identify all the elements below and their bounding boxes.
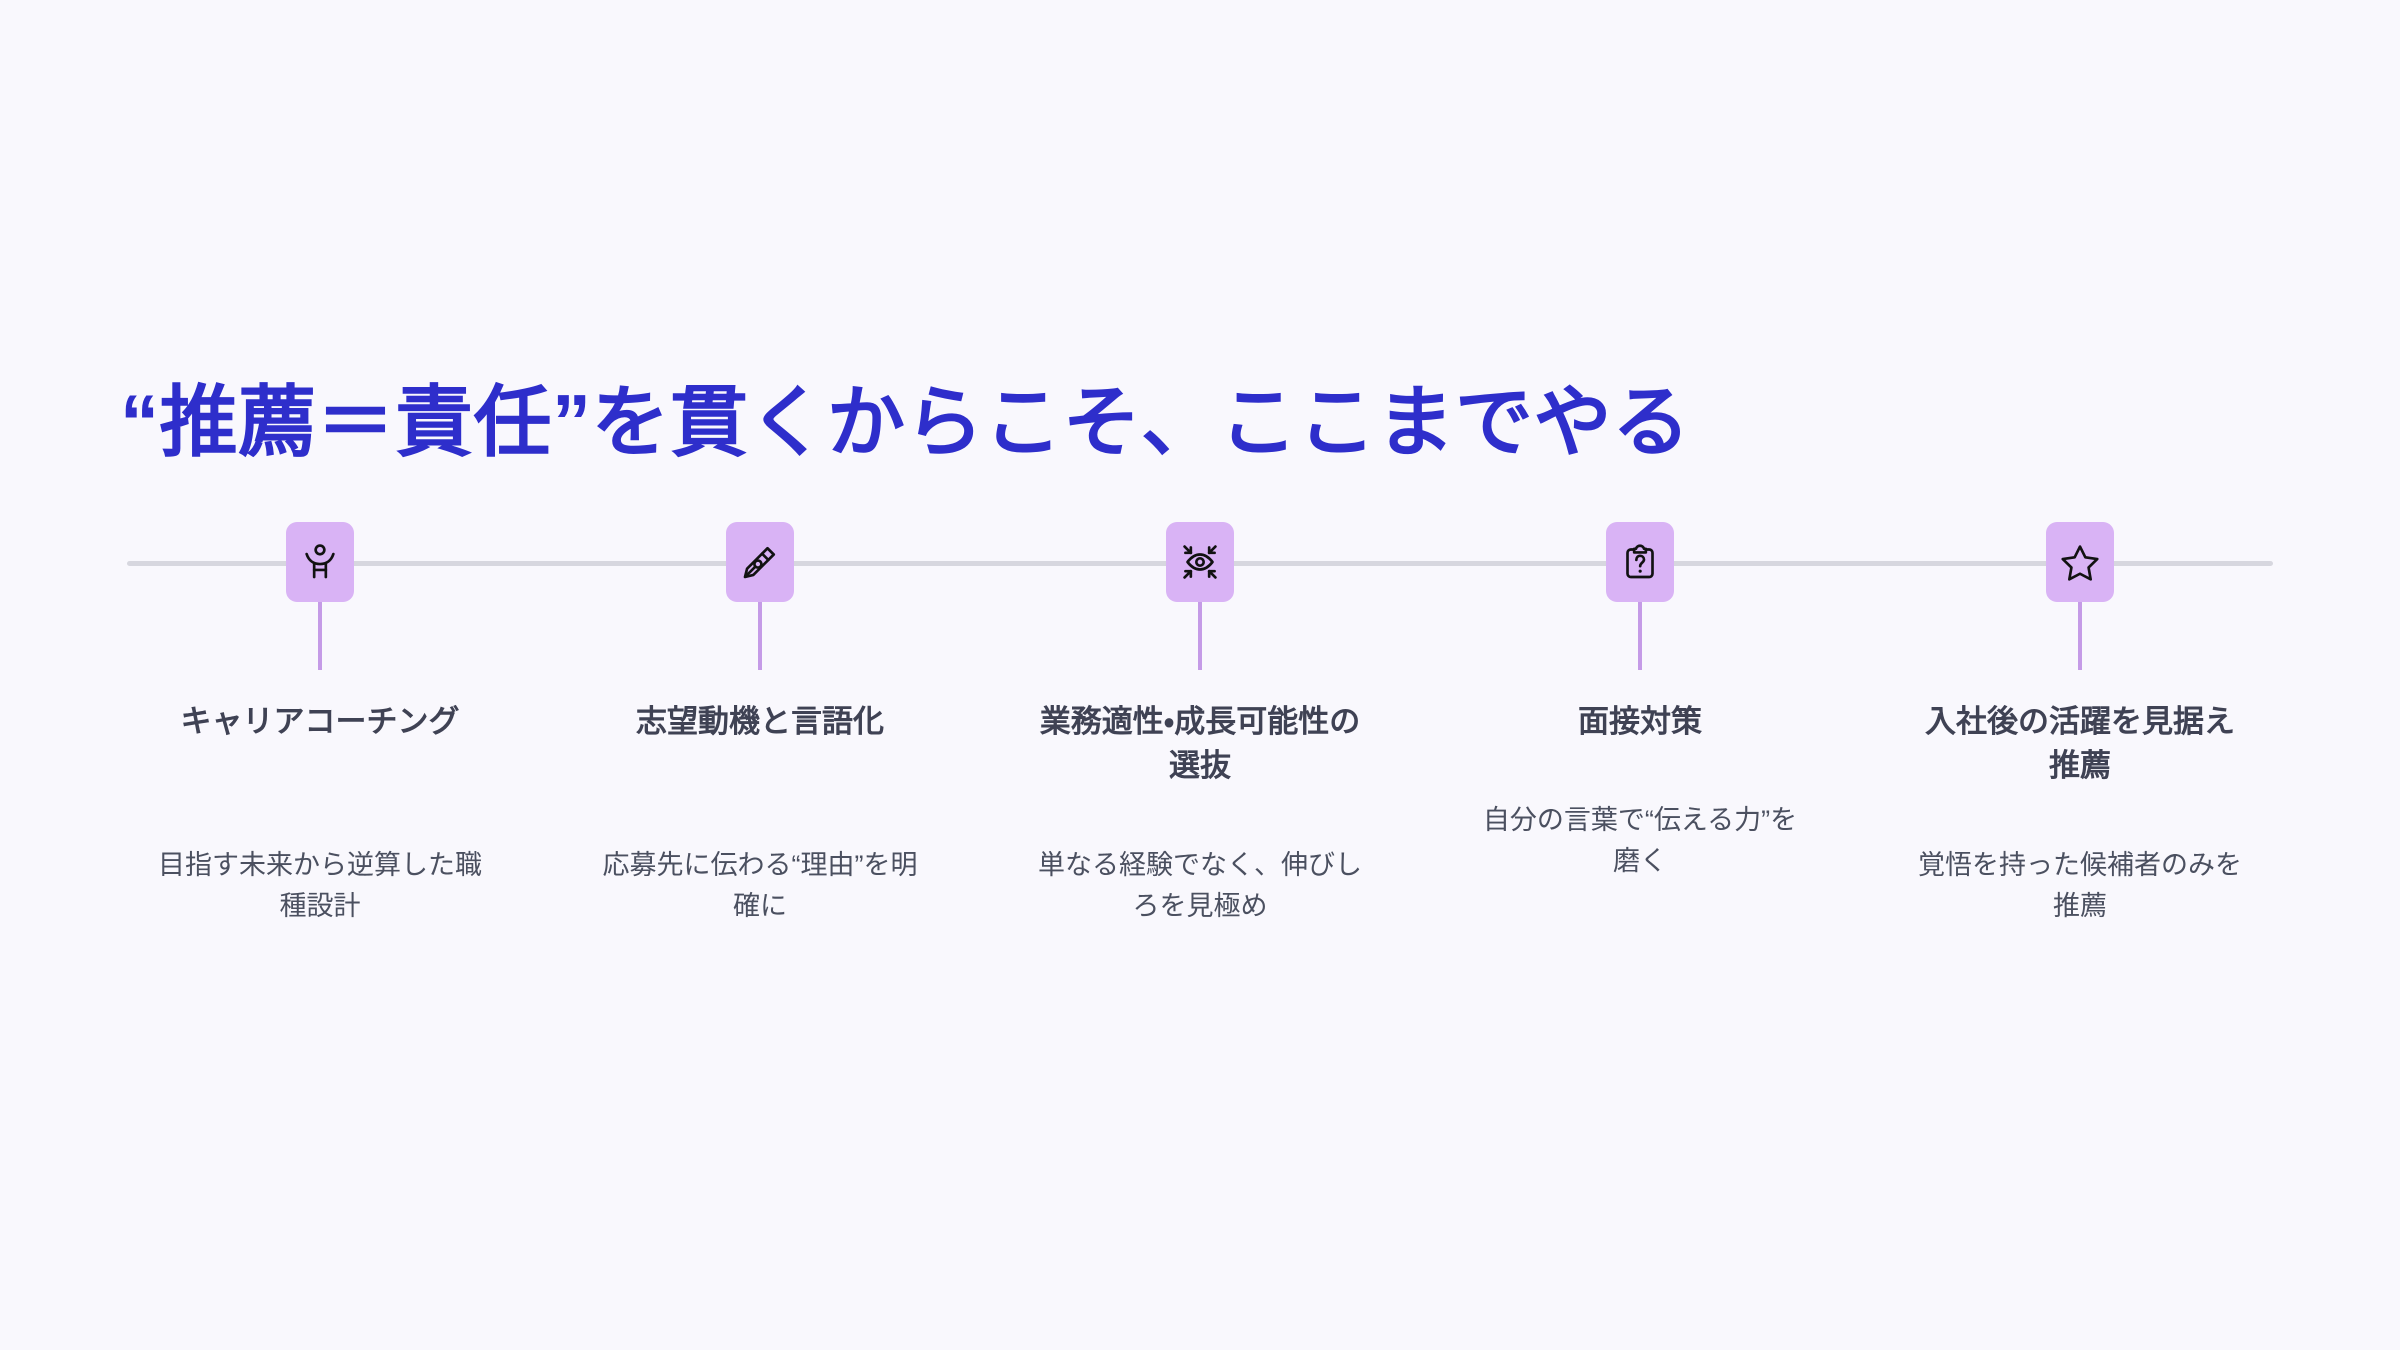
step-heading: 面接対策 (1420, 700, 1860, 744)
eye-focus-arrows-icon (1180, 542, 1220, 582)
timeline-step: 業務適性・成長可能性の選抜 単なる経験でなく、伸びしろを見極め (980, 0, 1420, 1350)
timeline-step: 志望動機と言語化 応募先に伝わる“理由”を明確に (540, 0, 980, 1350)
step-heading: 志望動機と言語化 (540, 700, 980, 744)
person-raising-hands-icon (300, 542, 340, 582)
timeline-step: 入社後の活躍を見据え推薦 覚悟を持った候補者のみを推薦 (1860, 0, 2300, 1350)
step-connector-stem (2078, 600, 2082, 670)
step-description: 単なる経験でなく、伸びしろを見極め (980, 845, 1420, 927)
step-heading: 業務適性・成長可能性の選抜 (980, 700, 1420, 788)
step-description: 自分の言葉で“伝える力”を磨く (1420, 800, 1860, 882)
star-outline-icon (2060, 542, 2100, 582)
step-icon-badge[interactable] (1166, 522, 1234, 602)
slide-canvas: “推薦＝責任”を貫くからこそ、ここまでやる キャリアコーチング 目指す未来から逆… (0, 0, 2400, 1350)
step-description: 覚悟を持った候補者のみを推薦 (1860, 845, 2300, 927)
timeline-step: 面接対策 自分の言葉で“伝える力”を磨く (1420, 0, 1860, 1350)
step-icon-badge[interactable] (726, 522, 794, 602)
step-connector-stem (318, 600, 322, 670)
step-heading: 入社後の活躍を見据え推薦 (1860, 700, 2300, 788)
timeline-steps: キャリアコーチング 目指す未来から逆算した職種設計 志望動機と言語化 応募先に伝… (100, 0, 2300, 1350)
clipboard-question-icon (1620, 542, 1660, 582)
step-connector-stem (1198, 600, 1202, 670)
step-heading: キャリアコーチング (100, 700, 540, 744)
timeline-step: キャリアコーチング 目指す未来から逆算した職種設計 (100, 0, 540, 1350)
step-connector-stem (758, 600, 762, 670)
step-icon-badge[interactable] (2046, 522, 2114, 602)
pen-nib-icon (740, 542, 780, 582)
step-description: 応募先に伝わる“理由”を明確に (540, 845, 980, 927)
step-description: 目指す未来から逆算した職種設計 (100, 845, 540, 927)
step-icon-badge[interactable] (1606, 522, 1674, 602)
step-icon-badge[interactable] (286, 522, 354, 602)
step-connector-stem (1638, 600, 1642, 670)
